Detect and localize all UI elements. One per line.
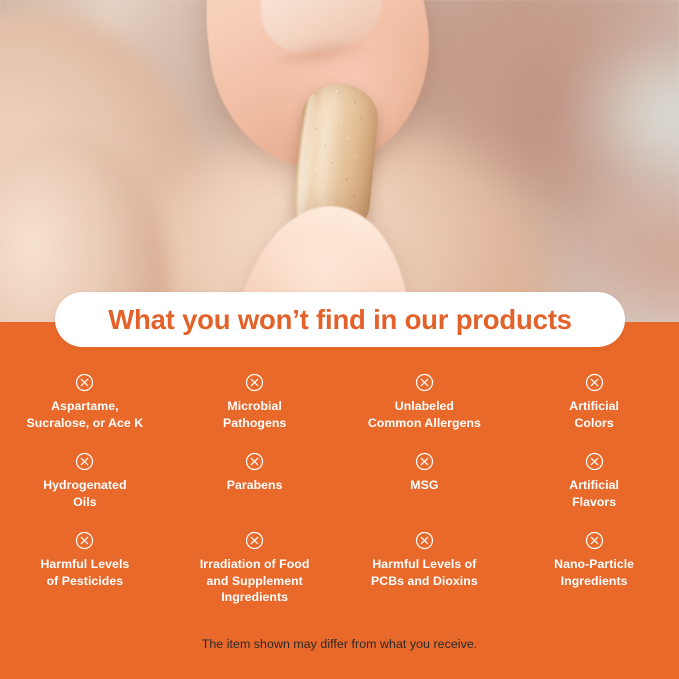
circle-x-icon xyxy=(245,452,264,471)
exclusion-label: Nano-Particle Ingredients xyxy=(554,556,634,589)
circle-x-icon xyxy=(415,452,434,471)
circle-x-icon xyxy=(415,531,434,550)
exclusion-item: Harmful Levels of PCBs and Dioxins xyxy=(340,531,510,621)
exclusion-item: Artificial Colors xyxy=(509,373,679,452)
exclusion-label: Unlabeled Common Allergens xyxy=(368,398,481,431)
headline-emphasis: won’t xyxy=(238,304,309,335)
exclusions-row: Harmful Levels of Pesticides Irradiation… xyxy=(0,531,679,621)
page-title: What you won’t find in our products xyxy=(108,304,572,336)
exclusion-item: Microbial Pathogens xyxy=(170,373,340,452)
headline-before: What you xyxy=(108,304,238,335)
exclusion-item: Artificial Flavors xyxy=(509,452,679,531)
exclusion-item: Nano-Particle Ingredients xyxy=(509,531,679,621)
circle-x-icon xyxy=(585,531,604,550)
hero-photo xyxy=(0,0,679,322)
exclusion-label: Harmful Levels of Pesticides xyxy=(40,556,129,589)
exclusions-row: Hydrogenated Oils Parabens xyxy=(0,452,679,531)
exclusion-item: Aspartame, Sucralose, or Ace K xyxy=(0,373,170,452)
circle-x-icon xyxy=(75,452,94,471)
exclusion-item: Irradiation of Food and Supplement Ingre… xyxy=(170,531,340,621)
headline-after: find in our products xyxy=(309,304,572,335)
exclusion-label: Irradiation of Food and Supplement Ingre… xyxy=(200,556,310,606)
circle-x-icon xyxy=(415,373,434,392)
exclusions-panel: Aspartame, Sucralose, or Ace K Microbial… xyxy=(0,322,679,679)
exclusion-item: Harmful Levels of Pesticides xyxy=(0,531,170,621)
exclusion-item: MSG xyxy=(340,452,510,531)
circle-x-icon xyxy=(585,452,604,471)
exclusion-label: Harmful Levels of PCBs and Dioxins xyxy=(371,556,478,589)
exclusion-item: Unlabeled Common Allergens xyxy=(340,373,510,452)
exclusion-label: Hydrogenated Oils xyxy=(43,477,126,510)
exclusion-label: Artificial Colors xyxy=(569,398,619,431)
circle-x-icon xyxy=(245,531,264,550)
exclusions-grid: Aspartame, Sucralose, or Ace K Microbial… xyxy=(0,373,679,621)
product-claims-screen: What you won’t find in our products Aspa… xyxy=(0,0,679,679)
exclusions-row: Aspartame, Sucralose, or Ace K Microbial… xyxy=(0,373,679,452)
circle-x-icon xyxy=(245,373,264,392)
circle-x-icon xyxy=(585,373,604,392)
exclusion-label: Microbial Pathogens xyxy=(223,398,286,431)
headline-card: What you won’t find in our products xyxy=(55,292,625,347)
exclusion-label: MSG xyxy=(410,477,438,494)
exclusion-item: Parabens xyxy=(170,452,340,531)
circle-x-icon xyxy=(75,373,94,392)
disclaimer-text: The item shown may differ from what you … xyxy=(0,637,679,651)
exclusion-label: Parabens xyxy=(227,477,283,494)
circle-x-icon xyxy=(75,531,94,550)
exclusion-item: Hydrogenated Oils xyxy=(0,452,170,531)
exclusion-label: Aspartame, Sucralose, or Ace K xyxy=(27,398,144,431)
exclusion-label: Artificial Flavors xyxy=(569,477,619,510)
